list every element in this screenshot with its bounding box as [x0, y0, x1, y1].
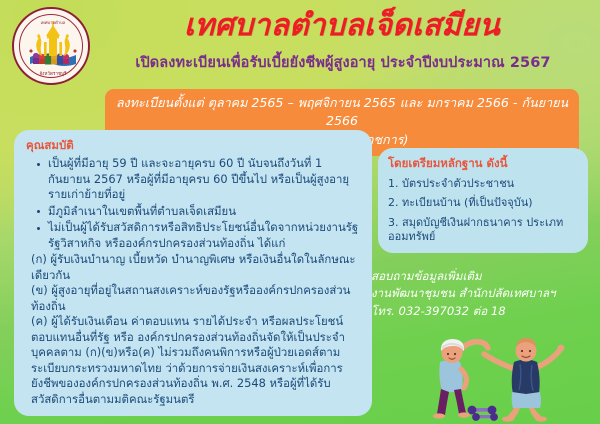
list-item: (ข) ผู้สูงอายุที่อยู่ในสถานสงเคราะห์ของร… — [26, 283, 362, 314]
qualifications-sub-list: (ก) ผู้รับเงินบำนาญ เบี้ยหวัด บำนาญพิเศษ… — [26, 252, 362, 407]
bullet-icon — [37, 163, 40, 166]
registration-period-line1: ลงทะเบียนตั้งแต่ ตุลาคม 2565 – พฤศจิกายน… — [116, 95, 568, 128]
bullet-icon — [37, 227, 40, 230]
qualifications-panel: คุณสมบัติ เป็นผู้ที่มีอายุ 59 ปี และจะอา… — [14, 130, 372, 416]
title-block: เทศบาลตำบลเจ็ดเสมียน เปิดลงทะเบียนเพื่อร… — [96, 4, 596, 74]
svg-text:เทศบาลตําบล: เทศบาลตําบล — [41, 20, 66, 25]
svg-text:จังหวัดราชบุรี: จังหวัดราชบุรี — [39, 70, 67, 77]
bullet-icon — [37, 210, 40, 213]
seal-artwork: เทศบาลตําบล จังหวัดราชบุรี — [14, 9, 90, 85]
municipal-seal-logo: เทศบาลตําบล จังหวัดราชบุรี — [12, 7, 90, 85]
elderly-people-exercising-illustration — [414, 322, 594, 422]
qualifications-list: เป็นผู้ที่มีอายุ 59 ปี และจะอายุครบ 60 ป… — [26, 156, 362, 251]
list-item-text: ไม่เป็นผู้ได้รับสวัสดิการหรือสิทธิประโยช… — [48, 220, 358, 250]
contact-phone: โทร. 032-397032 ต่อ 18 — [371, 303, 596, 320]
qualifications-heading: คุณสมบัติ — [26, 137, 362, 155]
list-item: มีภูมิลำเนาในเขตพื้นที่ตำบลเจ็ดเสมียน — [26, 204, 362, 220]
list-item: ไม่เป็นผู้ได้รับสวัสดิการหรือสิทธิประโยช… — [26, 220, 362, 251]
list-item: เป็นผู้ที่มีอายุ 59 ปี และจะอายุครบ 60 ป… — [26, 156, 362, 203]
list-item-text: เป็นผู้ที่มีอายุ 59 ปี และจะอายุครบ 60 ป… — [48, 156, 349, 201]
poster-header: เทศบาลตําบล จังหวัดราชบุรี เทศบาลตำบลเจ็… — [0, 0, 600, 92]
contact-department: งานพัฒนาชุมชน สำนักปลัดเทศบาลฯ — [371, 285, 596, 302]
contact-block: สอบถามข้อมูลเพิ่มเติม งานพัฒนาชุมชน สำนั… — [371, 268, 596, 320]
list-item: (ก) ผู้รับเงินบำนาญ เบี้ยหวัด บำนาญพิเศษ… — [26, 252, 362, 283]
list-item-text: มีภูมิลำเนาในเขตพื้นที่ตำบลเจ็ดเสมียน — [48, 204, 236, 218]
required-documents-list: 1. บัตรประจำตัวประชาชน 2. ทะเบียนบ้าน (ท… — [388, 177, 580, 244]
list-item: 2. ทะเบียนบ้าน (ที่เป็นปัจจุบัน) — [388, 196, 580, 210]
list-item: 1. บัตรประจำตัวประชาชน — [388, 177, 580, 191]
page-subtitle: เปิดลงทะเบียนเพื่อรับเบี้ยยังชีพผู้สูงอา… — [96, 51, 596, 74]
required-documents-panel: โดยเตรียมหลักฐาน ดังนี้ 1. บัตรประจำตัวป… — [378, 148, 588, 253]
dumbbells-icon — [468, 406, 498, 421]
contact-heading: สอบถามข้อมูลเพิ่มเติม — [371, 268, 596, 285]
list-item: 3. สมุดบัญชีเงินฝากธนาคาร ประเภทออมทรัพย… — [388, 216, 580, 245]
required-documents-heading: โดยเตรียมหลักฐาน ดังนี้ — [388, 155, 580, 173]
page-title: เทศบาลตำบลเจ็ดเสมียน — [96, 4, 596, 48]
poster-root: เทศบาลตําบล จังหวัดราชบุรี เทศบาลตำบลเจ็… — [0, 0, 600, 424]
list-item: (ค) ผู้ได้รับเงินเดือน ค่าตอบแทน รายได้ป… — [26, 314, 362, 407]
elderly-woman-figure — [433, 339, 488, 419]
